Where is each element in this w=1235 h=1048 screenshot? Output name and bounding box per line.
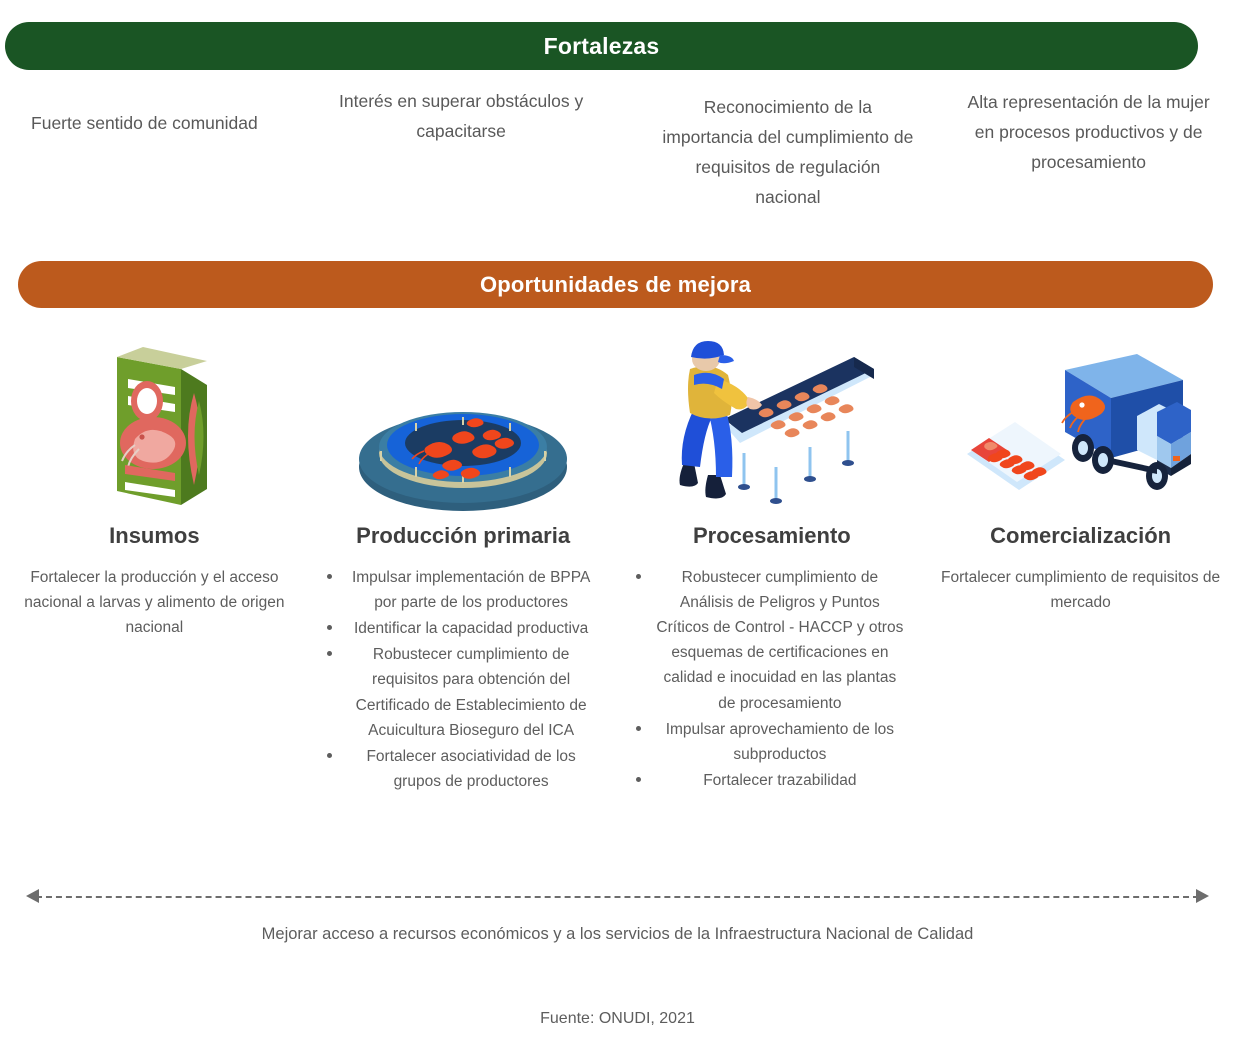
strengths-banner-label: Fortalezas <box>544 33 660 60</box>
stage-insumos: Insumos Fortalecer la producción y el ac… <box>0 330 309 640</box>
stage-description: Fortalecer cumplimiento de requisitos de… <box>930 565 1231 615</box>
double-arrow-icon <box>26 886 1209 908</box>
list-item-text: Fortalecer asociatividad de los grupos d… <box>366 748 575 790</box>
list-item-text: Identificar la capacidad productiva <box>354 620 588 637</box>
bullet-list: Impulsar implementación de BPPA por part… <box>319 565 608 794</box>
stage-title: Procesamiento <box>693 523 851 549</box>
stage-procesamiento: Procesamiento Robustecer cumplimiento de… <box>618 330 927 794</box>
list-item-text: Robustecer cumplimiento de requisitos pa… <box>356 646 587 738</box>
bullet-dot <box>636 777 641 782</box>
list-item: Impulsar implementación de BPPA por part… <box>319 565 608 615</box>
feed-bag-icon <box>10 330 299 515</box>
stage-comercializacion: Comercialización Fortalecer cumplimiento… <box>926 330 1235 615</box>
shrimp-pond-icon <box>319 330 608 515</box>
arrow-head-right-icon <box>1196 889 1209 903</box>
strengths-row: Fuerte sentido de comunidad Interés en s… <box>0 80 1235 240</box>
stage-description: Fortalecer la producción y el acceso nac… <box>4 565 305 640</box>
opportunities-banner: Oportunidades de mejora <box>18 261 1213 308</box>
strength-item: Reconocimiento de la importancia del cum… <box>634 80 943 212</box>
list-item: Robustecer cumplimiento de requisitos pa… <box>319 642 608 742</box>
list-item: Robustecer cumplimiento de Análisis de P… <box>628 565 917 716</box>
stage-title: Comercialización <box>990 523 1171 549</box>
crosscutting-section: Mejorar acceso a recursos económicos y a… <box>0 886 1235 948</box>
stage-description: Impulsar implementación de BPPA por part… <box>319 565 608 795</box>
bullet-dot <box>327 574 332 579</box>
value-chain-stages: Insumos Fortalecer la producción y el ac… <box>0 330 1235 795</box>
bullet-dot <box>636 574 641 579</box>
stage-title: Producción primaria <box>356 523 570 549</box>
strength-item: Alta representación de la mujer en proce… <box>942 80 1235 177</box>
list-item: Identificar la capacidad productiva <box>319 616 608 641</box>
bullet-list: Robustecer cumplimiento de Análisis de P… <box>628 565 917 793</box>
list-item-text: Robustecer cumplimiento de Análisis de P… <box>656 569 903 712</box>
bullet-dot <box>327 625 332 630</box>
source-note: Fuente: ONUDI, 2021 <box>0 1010 1235 1028</box>
list-item-text: Fortalecer trazabilidad <box>703 772 856 789</box>
list-item: Impulsar aprovechamiento de los subprodu… <box>628 717 917 767</box>
bullet-dot <box>327 651 332 656</box>
bullet-dot <box>636 726 641 731</box>
stage-title: Insumos <box>109 523 199 549</box>
delivery-truck-icon <box>936 330 1225 515</box>
stage-description: Robustecer cumplimiento de Análisis de P… <box>628 565 917 794</box>
strengths-banner: Fortalezas <box>5 22 1198 70</box>
list-item-text: Impulsar implementación de BPPA por part… <box>352 569 590 611</box>
bullet-dot <box>327 753 332 758</box>
strength-item: Interés en superar obstáculos y capacita… <box>289 80 634 146</box>
list-item-text: Impulsar aprovechamiento de los subprodu… <box>666 721 894 763</box>
strength-item: Fuerte sentido de comunidad <box>0 80 289 138</box>
conveyor-worker-icon <box>628 330 917 515</box>
dashed-line <box>36 896 1199 898</box>
opportunities-banner-label: Oportunidades de mejora <box>480 272 751 298</box>
stage-produccion-primaria: Producción primaria Impulsar implementac… <box>309 330 618 795</box>
list-item: Fortalecer trazabilidad <box>628 768 917 793</box>
list-item: Fortalecer asociatividad de los grupos d… <box>319 744 608 794</box>
crosscutting-label: Mejorar acceso a recursos económicos y a… <box>0 922 1235 948</box>
